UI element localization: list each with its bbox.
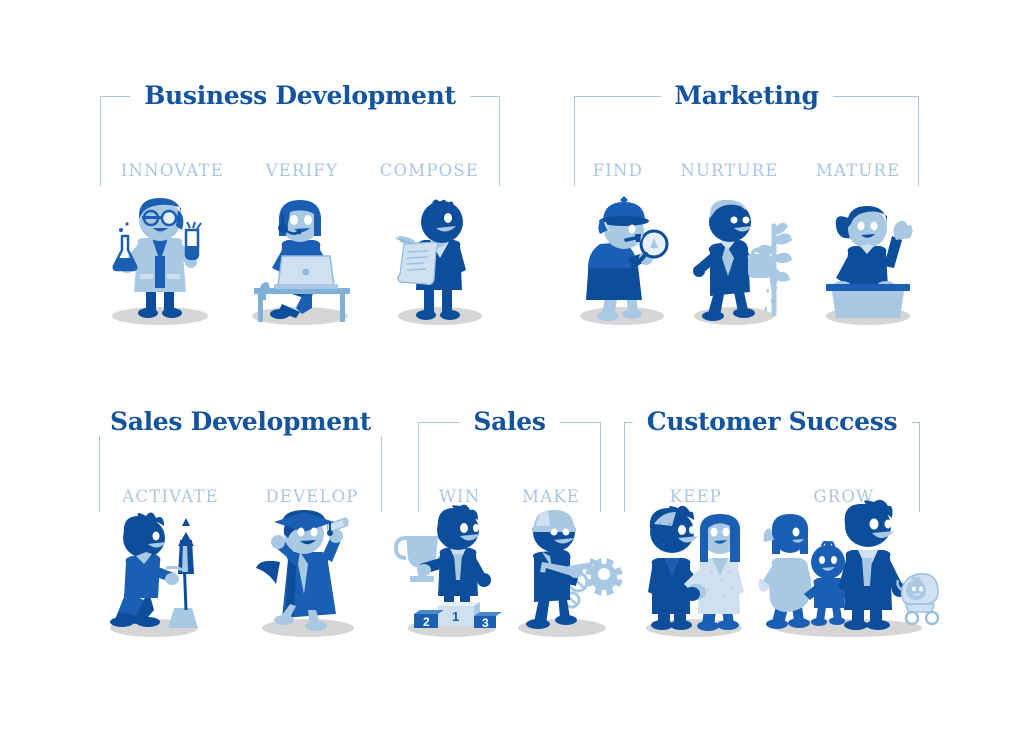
group-sales-development: Sales Development ACTIVATE DEVELOP [99,422,382,512]
step-label-develop: DEVELOP [265,487,358,506]
figure-scientist-with-flask [98,196,222,326]
figure-person-lighting-rocket [96,512,216,638]
infographic-canvas: Business Development INNOVATE VERIFY COM… [0,0,1024,751]
step-label-keep: KEEP [670,487,722,506]
figure-winner-on-podium-with-trophy: 2 1 3 [392,506,512,638]
figure-graduate-with-diploma [246,506,370,638]
figure-family-with-stroller [756,506,940,638]
group-step-labels: WIN MAKE [418,487,601,506]
group-title: Business Development [130,82,470,110]
group-step-labels: FIND NURTURE MATURE [574,161,919,180]
group-step-labels: ACTIVATE DEVELOP [99,487,382,506]
figure-two-people-handshake [632,506,756,638]
figure-person-watering-plant [682,196,800,326]
group-sales: Sales WIN MAKE [418,422,601,512]
step-label-verify: VERIFY [266,161,338,180]
step-label-compose: COMPOSE [380,161,479,180]
step-label-innovate: INNOVATE [121,161,224,180]
figure-detective-with-magnifying-glass [566,196,676,326]
step-label-find: FIND [593,161,643,180]
figure-person-at-laptop-with-headset [238,196,362,326]
podium-number-right: 3 [482,616,489,630]
podium-number-left: 2 [423,615,430,629]
figure-person-writing-scroll-with-quill [374,196,498,326]
step-label-make: MAKE [522,487,580,506]
group-title: Sales [459,408,559,436]
podium-number-center: 1 [452,609,459,624]
figure-worker-with-wrench-and-gears [506,506,626,638]
group-title: Customer Success [633,408,912,436]
group-marketing: Marketing FIND NURTURE MATURE [574,96,919,186]
group-business-development: Business Development INNOVATE VERIFY COM… [100,96,500,186]
group-customer-success: Customer Success KEEP GROW [624,422,920,512]
group-title: Marketing [660,82,832,110]
step-label-nurture: NURTURE [680,161,778,180]
step-label-grow: GROW [813,487,874,506]
group-step-labels: INNOVATE VERIFY COMPOSE [100,161,500,180]
step-label-mature: MATURE [816,161,901,180]
step-label-activate: ACTIVATE [122,487,219,506]
step-label-win: WIN [439,487,481,506]
group-title: Sales Development [96,408,385,436]
figure-student-raising-hand-at-desk [812,196,924,326]
